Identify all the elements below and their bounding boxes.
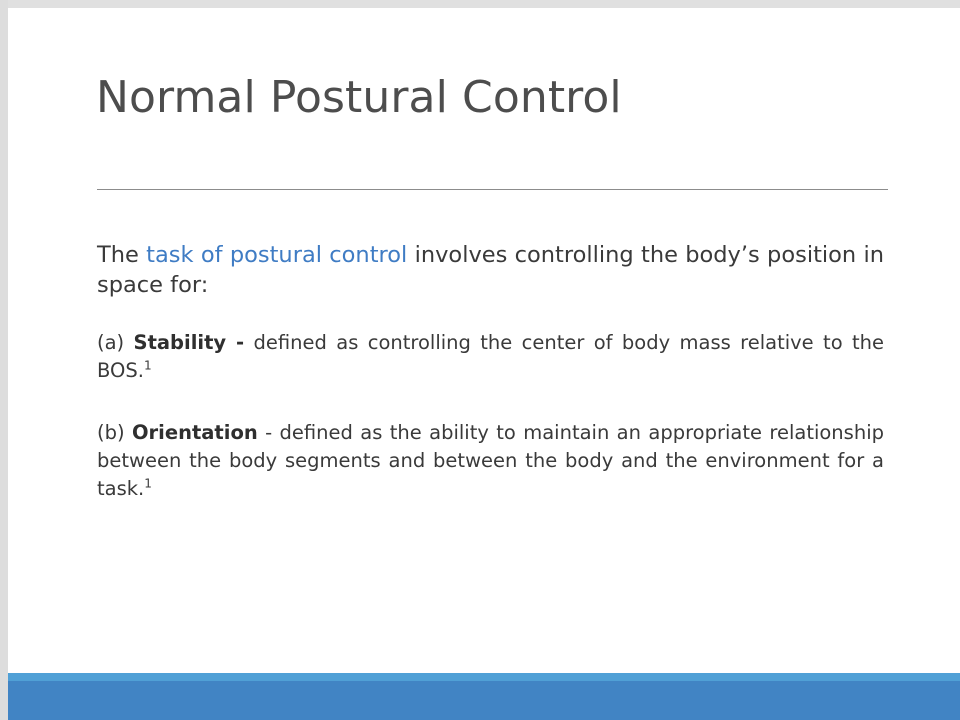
frame-top-edge [0, 0, 960, 8]
lead-text-before-link: The [97, 242, 146, 268]
reference-marker-orientation: 1 [144, 477, 152, 491]
list-item-orientation: (b) Orientation - defined as the ability… [97, 419, 884, 503]
item-term-stability: Stability - [134, 331, 245, 354]
reference-marker-stability: 1 [144, 359, 152, 373]
list-item-stability: (a) Stability - defined as controlling t… [97, 329, 884, 385]
slide-canvas: Normal Postural Control The task of post… [8, 8, 960, 720]
title-divider-rule [97, 189, 888, 190]
item-marker-a: (a) [97, 331, 134, 354]
highlighted-term-task-of-postural-control: task of postural control [146, 242, 407, 268]
frame-left-edge [0, 0, 8, 720]
slide-body: The task of postural control involves co… [97, 240, 884, 503]
item-marker-b: (b) [97, 421, 132, 444]
lead-paragraph: The task of postural control involves co… [97, 240, 884, 300]
footer-accent-band-light [8, 673, 960, 681]
item-term-orientation: Orientation [132, 421, 258, 444]
footer-accent-band-dark [8, 681, 960, 720]
slide-frame: Normal Postural Control The task of post… [0, 0, 960, 720]
slide-title: Normal Postural Control [96, 70, 896, 126]
